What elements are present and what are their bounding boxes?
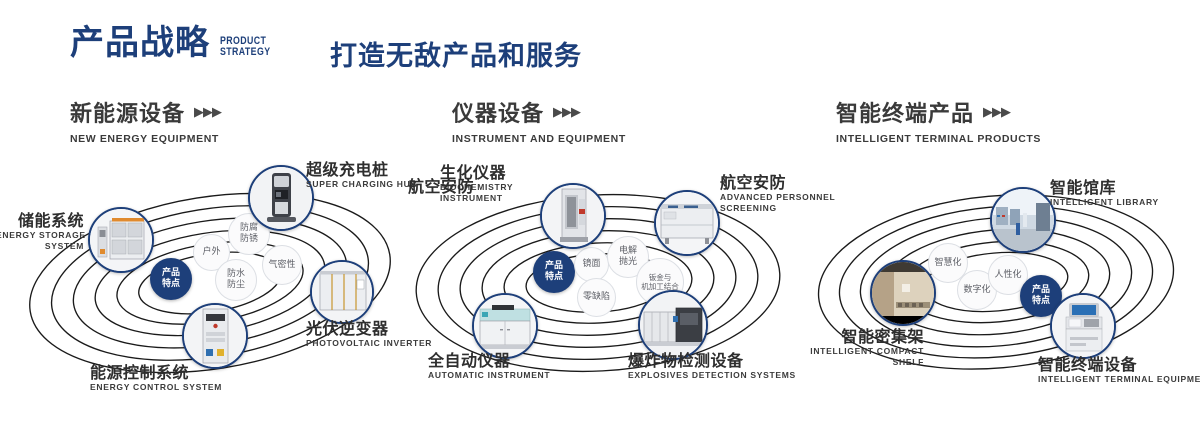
section-title-cn: 新能源设备	[70, 96, 185, 128]
energy-storage-cabinet-image	[90, 209, 152, 271]
screening-machine-image	[656, 192, 718, 254]
core-bubble-line1: 产品	[1032, 285, 1050, 296]
poster-canvas: 产品战略 PRODUCT STRATEGY 打造无敌产品和服务 新能源设备 ▶▶…	[0, 0, 1200, 422]
node-intelligent-terminal-equipment[interactable]	[1050, 293, 1116, 359]
inverter-cabinet-image	[312, 262, 372, 322]
node-advanced-personnel-screening[interactable]	[654, 190, 720, 256]
node-energy-control-system[interactable]	[182, 303, 248, 369]
section-title-en: INTELLIGENT TERMINAL PRODUCTS	[836, 133, 1041, 145]
core-bubble-line2: 特点	[1032, 296, 1050, 307]
section-title-instrument-and-equipment: 仪器设备 ▶▶▶ INSTRUMENT AND EQUIPMENT	[452, 96, 626, 145]
core-bubble: 产品 特点	[533, 251, 575, 293]
compact-shelf-image	[872, 262, 934, 324]
node-explosives-detection-systems[interactable]	[638, 290, 708, 360]
node-intelligent-compact-shelf[interactable]	[870, 260, 936, 326]
core-bubble-line2: 特点	[545, 272, 563, 283]
automatic-analyzer-image	[474, 295, 536, 357]
charging-pile-image	[250, 167, 312, 229]
node-super-charging-hub[interactable]	[248, 165, 314, 231]
feature-bubble: 气密性	[262, 245, 302, 285]
node-automatic-instrument[interactable]	[472, 293, 538, 359]
chevron-right-icon: ▶▶▶	[983, 104, 1010, 120]
section-title-en: NEW ENERGY EQUIPMENT	[70, 133, 221, 145]
chevron-right-icon: ▶▶▶	[194, 104, 221, 120]
cluster-intelligent-terminal-products: 智慧化 数字化 人性化 产品 特点	[800, 155, 1200, 405]
label-automatic-instrument: 全自动仪器 AUTOMATIC INSTRUMENT	[428, 351, 550, 381]
node-photovoltaic-inverter[interactable]	[310, 260, 374, 324]
node-intelligent-library[interactable]	[990, 187, 1056, 253]
node-energy-storage-system[interactable]	[88, 207, 154, 273]
core-bubble-line1: 产品	[545, 261, 563, 272]
cluster-instrument-and-equipment: 产品 特点 镜面 电解 抛光 钣金与 机加工结合 零缺陷	[400, 155, 800, 405]
section-title-cn: 智能终端产品	[836, 96, 974, 128]
section-title-cn: 仪器设备	[452, 96, 544, 128]
page-title-english: PRODUCT STRATEGY	[220, 36, 270, 60]
label-aviation-security-left: 航空安防	[408, 177, 474, 196]
poster-header: 产品战略 PRODUCT STRATEGY	[70, 26, 283, 60]
node-biochemistry-instrument[interactable]	[540, 183, 606, 249]
control-cabinet-image	[184, 305, 246, 367]
biochemistry-analyzer-image	[542, 185, 604, 247]
feature-bubble: 零缺陷	[577, 278, 616, 317]
chevron-right-icon: ▶▶▶	[553, 104, 580, 120]
label-intelligent-compact-shelf: 智能密集架 INTELLIGENT COMPACT SHELF	[804, 327, 924, 368]
label-energy-control-system: 能源控制系统 ENERGY CONTROL SYSTEM	[90, 363, 222, 393]
section-title-intelligent-terminal-products: 智能终端产品 ▶▶▶ INTELLIGENT TERMINAL PRODUCTS	[836, 96, 1041, 145]
section-title-new-energy-equipment: 新能源设备 ▶▶▶ NEW ENERGY EQUIPMENT	[70, 96, 221, 145]
cluster-new-energy-equipment: 产品 特点 户外 防腐 防锈 防水 防尘 气密性	[10, 155, 410, 405]
feature-bubble: 防水 防尘	[215, 259, 257, 301]
label-intelligent-library: 智能馆库 INTELLIGENT LIBRARY	[1050, 178, 1159, 208]
feature-bubble: 镜面	[574, 247, 609, 282]
explosives-detector-image	[640, 292, 706, 358]
page-title-english-line2: STRATEGY	[220, 47, 270, 58]
label-energy-storage-system: 储能系统 ENERGY STORAGE SYSTEM	[0, 211, 84, 252]
label-explosives-detection-systems: 爆炸物检测设备 EXPLOSIVES DETECTION SYSTEMS	[628, 351, 796, 381]
self-service-kiosk-image	[1052, 295, 1114, 357]
core-bubble-line1: 产品	[162, 268, 180, 279]
section-title-en: INSTRUMENT AND EQUIPMENT	[452, 133, 626, 145]
core-bubble: 产品 特点	[150, 258, 192, 300]
page-subtitle: 打造无敌产品和服务	[330, 34, 582, 73]
page-title: 产品战略	[70, 26, 210, 60]
label-intelligent-terminal-equipment: 智能终端设备 INTELLIGENT TERMINAL EQUIPMENT	[1038, 355, 1200, 385]
core-bubble-line2: 特点	[162, 279, 180, 290]
library-interior-image	[992, 189, 1054, 251]
